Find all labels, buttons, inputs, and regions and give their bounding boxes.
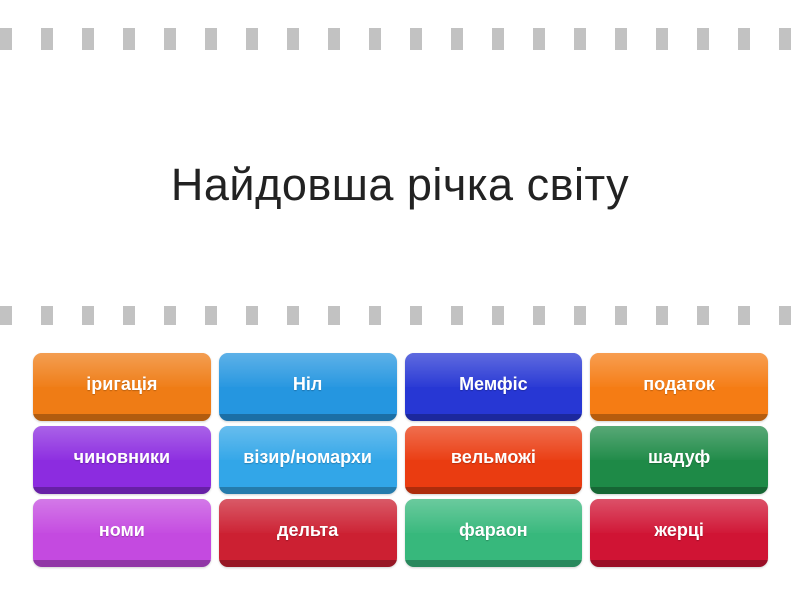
separator-dash (492, 306, 504, 325)
separator-dash (533, 28, 545, 50)
answer-tile[interactable]: шадуф (590, 426, 768, 494)
answer-tile-label: жерці (654, 521, 704, 540)
question-text: Найдовша річка світу (171, 159, 629, 211)
separator-dash (41, 306, 53, 325)
answer-tile[interactable]: Ніл (219, 353, 397, 421)
answer-tile[interactable]: Мемфіс (405, 353, 583, 421)
separator-dash (615, 28, 627, 50)
answer-tile-label: податок (643, 375, 715, 394)
answer-tile[interactable]: чиновники (33, 426, 211, 494)
separator-dash (697, 306, 709, 325)
answer-tile-label: Мемфіс (459, 375, 528, 394)
answer-tile[interactable]: іригація (33, 353, 211, 421)
answer-tile[interactable]: дельта (219, 499, 397, 567)
answer-tile[interactable]: жерці (590, 499, 768, 567)
answer-tile-grid: іригаціяНілМемфісподатокчиновникивізир/н… (33, 353, 768, 567)
answer-tile[interactable]: візир/номархи (219, 426, 397, 494)
separator-dash (164, 306, 176, 325)
answer-tile-label: фараон (459, 521, 528, 540)
answer-tile[interactable]: фараон (405, 499, 583, 567)
separator-dash (82, 28, 94, 50)
separator-dash (287, 306, 299, 325)
answer-tile-label: Ніл (293, 375, 322, 394)
separator-dash (287, 28, 299, 50)
answer-tile-label: чиновники (74, 448, 170, 467)
separator-dash (369, 28, 381, 50)
separator-dash (369, 306, 381, 325)
separator-dash (574, 306, 586, 325)
separator-dash (123, 306, 135, 325)
separator-dash (246, 28, 258, 50)
question-area: Найдовша річка світу (0, 72, 800, 298)
separator-dash (533, 306, 545, 325)
separator-dash (164, 28, 176, 50)
separator-dash (697, 28, 709, 50)
answer-tile-label: шадуф (648, 448, 710, 467)
separator-dash (410, 306, 422, 325)
answer-tile[interactable]: номи (33, 499, 211, 567)
separator-dash (0, 306, 12, 325)
separator-dash (656, 306, 668, 325)
separator-dash (123, 28, 135, 50)
answer-tile-label: іригація (86, 375, 157, 394)
separator-dash (451, 28, 463, 50)
separator-dash (328, 306, 340, 325)
separator-dash (574, 28, 586, 50)
separator-dash (0, 28, 12, 50)
separator-dash (738, 28, 750, 50)
separator-dash (779, 306, 791, 325)
answer-tile-label: номи (99, 521, 145, 540)
separator-dash (41, 28, 53, 50)
separator-dash (615, 306, 627, 325)
separator-dash (656, 28, 668, 50)
answer-tile[interactable]: вельможі (405, 426, 583, 494)
separator-dash (205, 28, 217, 50)
separator-dash (410, 28, 422, 50)
separator-dash (205, 306, 217, 325)
separator-dash (738, 306, 750, 325)
answer-tile-label: дельта (277, 521, 338, 540)
dashed-separator-top (0, 28, 800, 50)
separator-dash (82, 306, 94, 325)
dashed-separator-middle (0, 306, 800, 328)
separator-dash (779, 28, 791, 50)
answer-tile[interactable]: податок (590, 353, 768, 421)
separator-dash (246, 306, 258, 325)
separator-dash (328, 28, 340, 50)
answer-tile-label: вельможі (451, 448, 536, 467)
separator-dash (451, 306, 463, 325)
answer-tile-label: візир/номархи (243, 448, 372, 467)
separator-dash (492, 28, 504, 50)
